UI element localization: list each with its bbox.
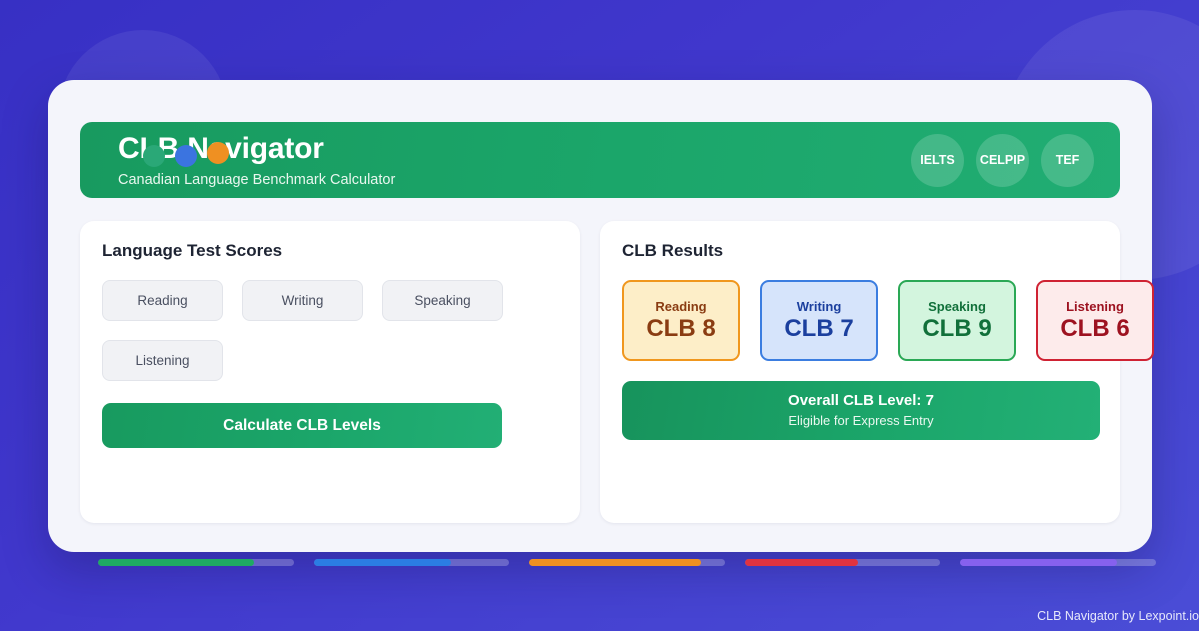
result-skill-label: Speaking — [928, 299, 986, 315]
result-level-value: CLB 6 — [1060, 315, 1129, 343]
badge-tef[interactable]: TEF — [1041, 134, 1094, 187]
result-skill-label: Writing — [797, 299, 842, 315]
listening-progress-track — [745, 559, 941, 566]
result-skill-label: Reading — [655, 299, 706, 315]
result-card-writing: Writing CLB 7 — [760, 280, 878, 361]
result-level-value: CLB 9 — [922, 315, 991, 343]
result-card-listening: Listening CLB 6 — [1036, 280, 1154, 361]
app-shell: CLB Navigator Canadian Language Benchmar… — [48, 80, 1152, 552]
brand: CLB Navigator Canadian Language Benchmar… — [118, 132, 395, 189]
clb-results-panel: CLB Results Reading CLB 8 Writing CLB 7 … — [600, 221, 1120, 523]
result-skill-label: Listening — [1066, 299, 1124, 315]
result-cards-group: Reading CLB 8 Writing CLB 7 Speaking CLB… — [622, 280, 1098, 361]
reading-progress-track — [98, 559, 294, 566]
result-card-speaking: Speaking CLB 9 — [898, 280, 1016, 361]
overall-clb-level: Overall CLB Level: 7 — [788, 391, 934, 411]
test-type-badges: IELTS CELPIP TEF — [911, 134, 1094, 187]
panels-container: Language Test Scores Reading Writing Spe… — [80, 221, 1120, 523]
badge-ielts[interactable]: IELTS — [911, 134, 964, 187]
reading-progress-fill — [98, 559, 254, 566]
app-subtitle: Canadian Language Benchmark Calculator — [118, 171, 395, 189]
result-level-value: CLB 7 — [784, 315, 853, 343]
green-dot — [143, 145, 165, 167]
app-header: CLB Navigator Canadian Language Benchmar… — [80, 122, 1120, 198]
speaking-progress-fill — [529, 559, 701, 566]
progress-bars-row — [98, 559, 1156, 566]
speaking-score-input[interactable]: Speaking — [382, 280, 503, 321]
result-level-value: CLB 8 — [646, 315, 715, 343]
footer-credit: CLB Navigator by Lexpoint.io — [1037, 609, 1199, 623]
overall-progress-fill — [960, 559, 1116, 566]
calculate-clb-levels-button[interactable]: Calculate CLB Levels — [102, 403, 502, 448]
speaking-progress-track — [529, 559, 725, 566]
writing-progress-fill — [314, 559, 451, 566]
reading-score-input[interactable]: Reading — [102, 280, 223, 321]
score-inputs-group: Reading Writing Speaking Listening — [102, 280, 558, 381]
orange-dot — [207, 142, 229, 164]
listening-score-input[interactable]: Listening — [102, 340, 223, 381]
writing-score-input[interactable]: Writing — [242, 280, 363, 321]
right-panel-title: CLB Results — [622, 241, 1098, 261]
overall-clb-banner: Overall CLB Level: 7 Eligible for Expres… — [622, 381, 1100, 440]
language-test-scores-panel: Language Test Scores Reading Writing Spe… — [80, 221, 580, 523]
left-panel-title: Language Test Scores — [102, 241, 558, 261]
blue-dot — [175, 145, 197, 167]
badge-celpip[interactable]: CELPIP — [976, 134, 1029, 187]
writing-progress-track — [314, 559, 510, 566]
listening-progress-fill — [745, 559, 858, 566]
overall-progress-track — [960, 559, 1156, 566]
result-card-reading: Reading CLB 8 — [622, 280, 740, 361]
overall-eligibility: Eligible for Express Entry — [788, 412, 933, 430]
